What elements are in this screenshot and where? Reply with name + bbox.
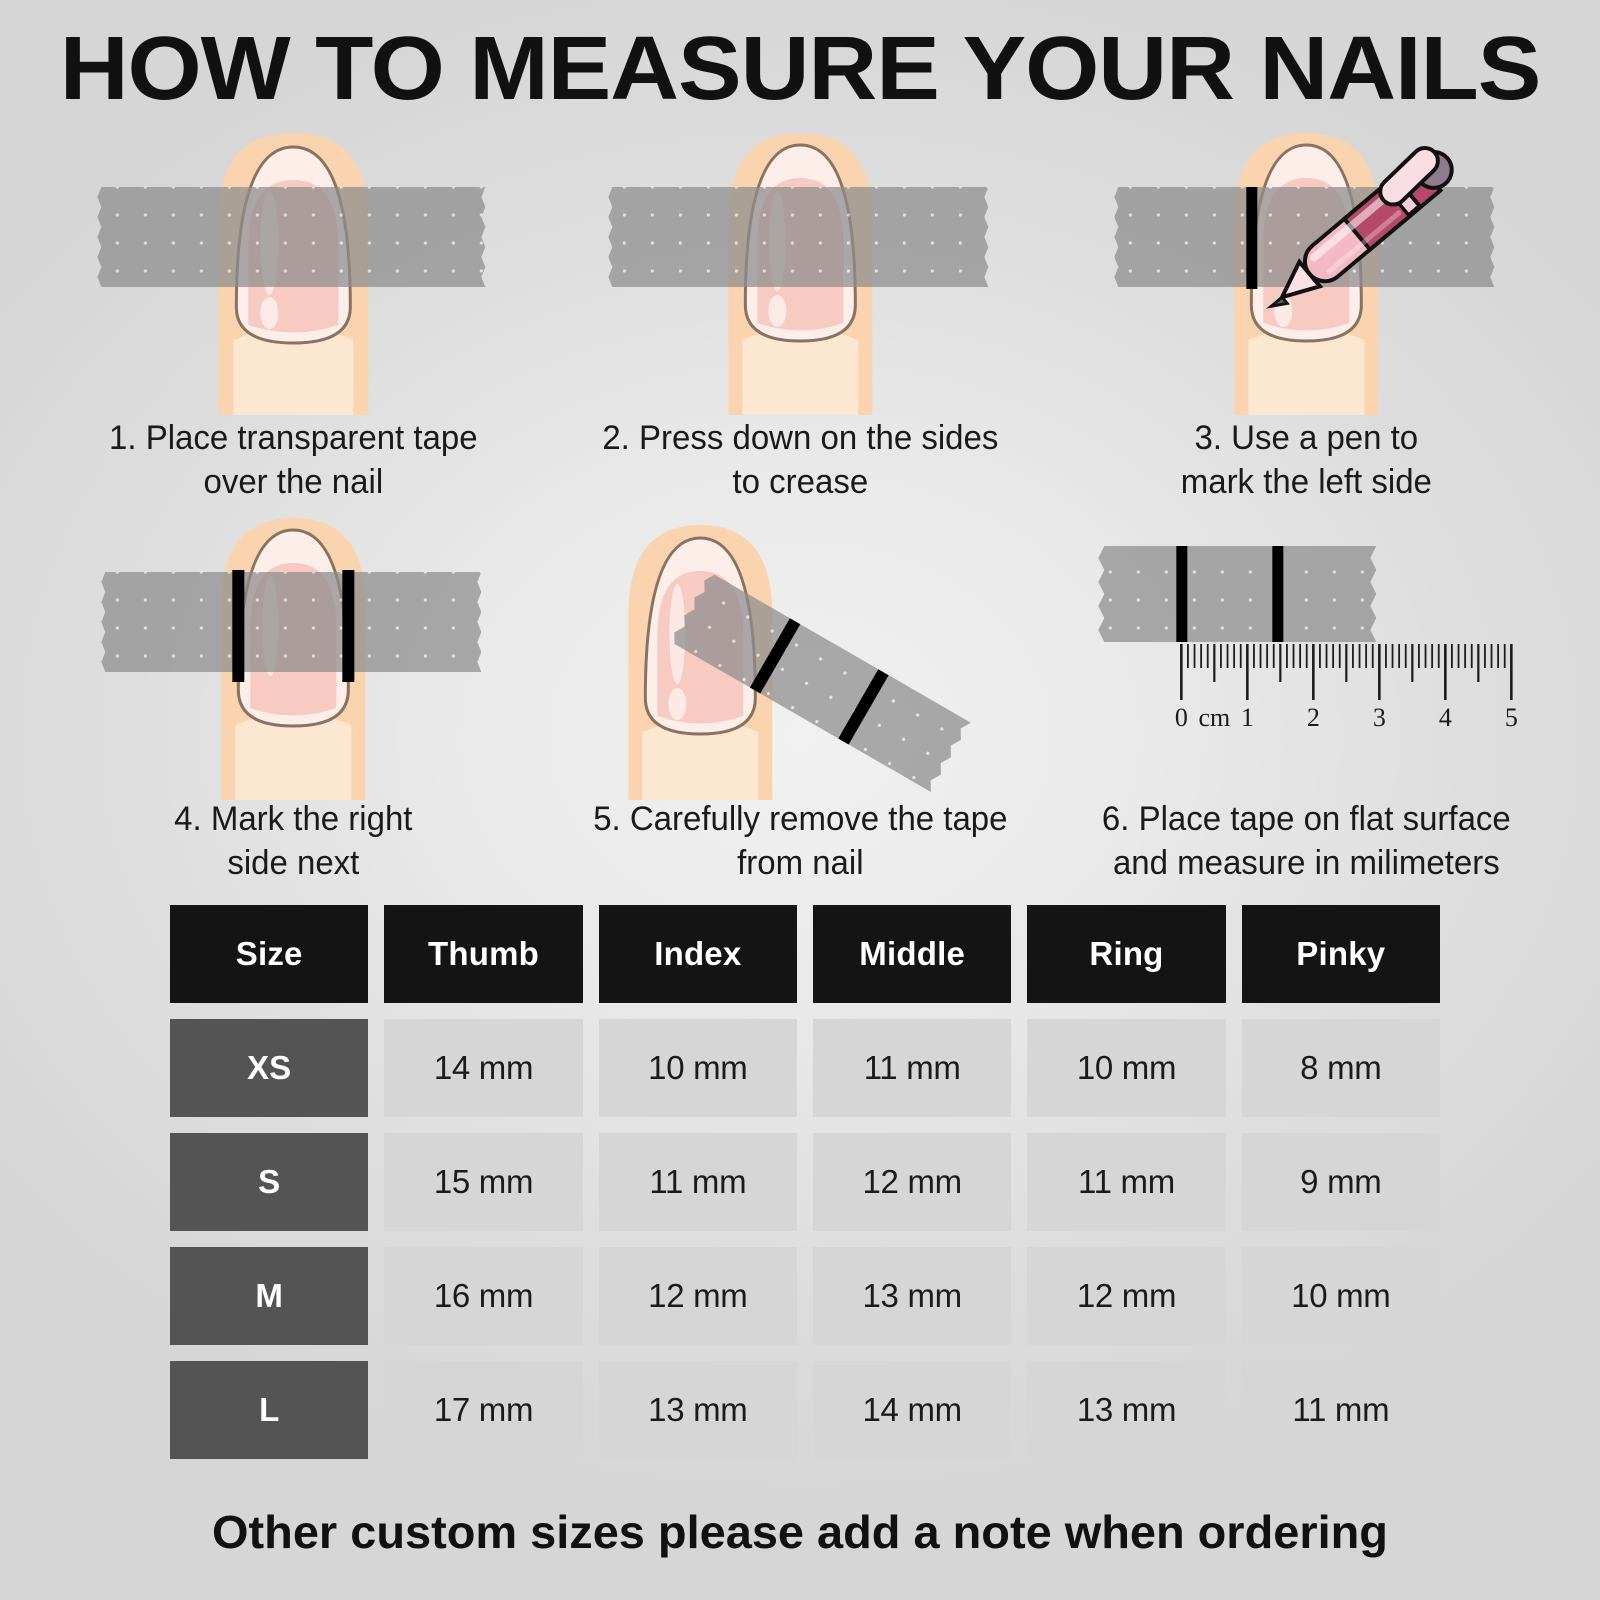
table-cell-s-pinky: 9 mm (1242, 1133, 1440, 1231)
table-header-pinky: Pinky (1242, 905, 1440, 1003)
table-cell-xs-pinky: 8 mm (1242, 1019, 1440, 1117)
ruler-tick-5: 5 (1505, 703, 1518, 732)
step-5: 5. Carefully remove the tape from nail (547, 510, 1054, 895)
step-5-caption-line2: from nail (554, 842, 1045, 886)
step-5-caption: 5. Carefully remove the tape from nail (554, 798, 1045, 885)
infographic-page: HOW TO MEASURE YOUR NAILS (0, 0, 1600, 1600)
table-cell-l-ring: 13 mm (1027, 1361, 1225, 1459)
step-3-caption-line1: 3. Use a pen to (1061, 417, 1552, 461)
table-cell-s-ring: 11 mm (1027, 1133, 1225, 1231)
table-row-size-l: L (170, 1361, 368, 1459)
step-2-caption: 2. Press down on the sides to crease (554, 417, 1045, 504)
tape-mark-right (1273, 546, 1284, 642)
step-4-caption: 4. Mark the right side next (48, 798, 539, 885)
tape-mark-left (1177, 546, 1188, 642)
ruler-ticks (1182, 644, 1512, 700)
table-cell-m-thumb: 16 mm (384, 1247, 582, 1345)
table-cell-s-index: 11 mm (599, 1133, 797, 1231)
size-chart-table: Size Thumb Index Middle Ring Pinky XS 14… (170, 905, 1440, 1459)
mark-left (232, 570, 244, 682)
step-1-caption-line1: 1. Place transparent tape (48, 417, 539, 461)
table-cell-m-ring: 12 mm (1027, 1247, 1225, 1345)
step-1-caption-line2: over the nail (48, 461, 539, 505)
table-cell-xs-middle: 11 mm (813, 1019, 1011, 1117)
finger-with-tape-icon (40, 125, 547, 415)
table-row-size-s: S (170, 1133, 368, 1231)
table-header-index: Index (599, 905, 797, 1003)
step-3: 3. Use a pen to mark the left side (1053, 125, 1560, 510)
finger-tape-pen-icon (1053, 125, 1560, 415)
ruler-tick-3: 3 (1373, 703, 1386, 732)
step-4-caption-line2: side next (48, 842, 539, 886)
table-row-size-m: M (170, 1247, 368, 1345)
ruler-tick-2: 2 (1307, 703, 1320, 732)
ruler-tick-0: 0 (1175, 703, 1188, 732)
steps-grid: 1. Place transparent tape over the nail (40, 125, 1560, 895)
finger-tape-peeling-icon (547, 510, 1054, 800)
table-cell-s-thumb: 15 mm (384, 1133, 582, 1231)
mark-right (342, 570, 354, 682)
table-header-size: Size (170, 905, 368, 1003)
step-6: 0 cm 1 2 3 4 5 6. Place tape on flat sur… (1053, 510, 1560, 895)
step-5-caption-line1: 5. Carefully remove the tape (554, 798, 1045, 842)
finger-tape-two-marks-icon (40, 510, 547, 800)
ruler-unit-label: cm (1199, 703, 1231, 732)
ruler-tick-4: 4 (1439, 703, 1452, 732)
finger-tape-creased-icon (547, 125, 1054, 415)
table-cell-m-pinky: 10 mm (1242, 1247, 1440, 1345)
table-header-ring: Ring (1027, 905, 1225, 1003)
table-cell-xs-index: 10 mm (599, 1019, 797, 1117)
table-cell-m-index: 12 mm (599, 1247, 797, 1345)
step-3-caption-line2: mark the left side (1061, 461, 1552, 505)
ruler-labels: 0 cm 1 2 3 4 5 (1175, 703, 1518, 732)
table-cell-l-pinky: 11 mm (1242, 1361, 1440, 1459)
step-4-caption-line1: 4. Mark the right (48, 798, 539, 842)
step-6-caption: 6. Place tape on flat surface and measur… (1061, 798, 1552, 885)
table-cell-l-index: 13 mm (599, 1361, 797, 1459)
table-header-thumb: Thumb (384, 905, 582, 1003)
table-row-size-xs: XS (170, 1019, 368, 1117)
table-cell-xs-thumb: 14 mm (384, 1019, 582, 1117)
table-cell-m-middle: 13 mm (813, 1247, 1011, 1345)
ruler-tick-1: 1 (1241, 703, 1254, 732)
step-1-caption: 1. Place transparent tape over the nail (48, 417, 539, 504)
step-6-caption-line2: and measure in milimeters (1061, 842, 1552, 886)
table-cell-l-middle: 14 mm (813, 1361, 1011, 1459)
step-4: 4. Mark the right side next (40, 510, 547, 895)
step-2-caption-line2: to crease (554, 461, 1045, 505)
table-cell-xs-ring: 10 mm (1027, 1019, 1225, 1117)
step-1: 1. Place transparent tape over the nail (40, 125, 547, 510)
step-6-caption-line1: 6. Place tape on flat surface (1061, 798, 1552, 842)
table-cell-s-middle: 12 mm (813, 1133, 1011, 1231)
pen-mark-left (1247, 187, 1258, 289)
step-2: 2. Press down on the sides to crease (547, 125, 1054, 510)
table-cell-l-thumb: 17 mm (384, 1361, 582, 1459)
page-title: HOW TO MEASURE YOUR NAILS (0, 24, 1600, 114)
step-2-caption-line1: 2. Press down on the sides (554, 417, 1045, 461)
table-header-middle: Middle (813, 905, 1011, 1003)
tape-with-ruler-icon: 0 cm 1 2 3 4 5 (1053, 510, 1560, 800)
step-3-caption: 3. Use a pen to mark the left side (1061, 417, 1552, 504)
footer-note: Other custom sizes please add a note whe… (0, 1505, 1600, 1559)
